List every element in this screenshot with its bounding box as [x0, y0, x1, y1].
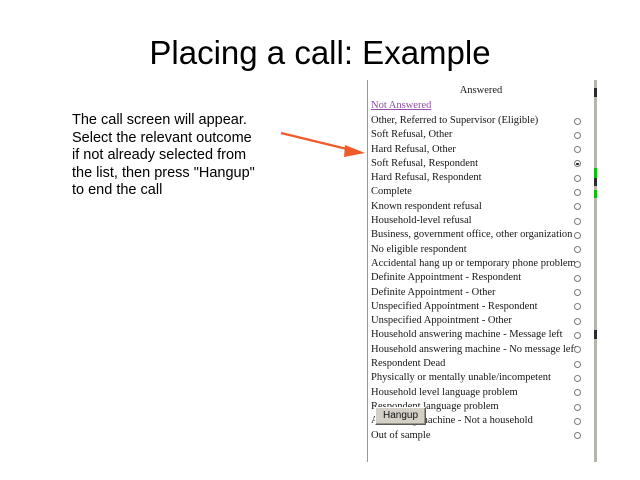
outcome-radio[interactable] — [574, 275, 581, 282]
outcome-row[interactable]: Definite Appointment - Other — [368, 286, 594, 300]
outcome-list: Other, Referred to Supervisor (Eligible)… — [368, 114, 594, 443]
outcome-radio[interactable] — [574, 346, 581, 353]
outcome-row[interactable]: Unspecified Appointment - Other — [368, 314, 594, 328]
outcome-row[interactable]: Household answering machine - Message le… — [368, 328, 594, 342]
outcome-radio[interactable] — [574, 404, 581, 411]
outcome-radio[interactable] — [574, 203, 581, 210]
caption-line: if not already selected from — [72, 147, 287, 165]
outcome-radio[interactable] — [574, 375, 581, 382]
outcome-label: Physically or mentally unable/incompeten… — [371, 371, 551, 385]
outcome-label: Hard Refusal, Other — [371, 143, 456, 157]
outcome-label: Known respondent refusal — [371, 200, 482, 214]
outcome-radio[interactable] — [574, 418, 581, 425]
outcome-label: Respondent Dead — [371, 357, 445, 371]
outcome-row[interactable]: No eligible respondent — [368, 243, 594, 257]
caption-line: The call screen will appear. — [72, 112, 287, 130]
outcome-label: No eligible respondent — [371, 243, 467, 257]
outcome-label: Unspecified Appointment - Respondent — [371, 300, 538, 314]
outcome-row[interactable]: Soft Refusal, Other — [368, 128, 594, 142]
outcome-radio[interactable] — [574, 432, 581, 439]
call-screen-panel: Answered Not Answered Other, Referred to… — [367, 80, 595, 462]
outcome-radio[interactable] — [574, 232, 581, 239]
outcome-row[interactable]: Hard Refusal, Respondent — [368, 171, 594, 185]
outcome-radio[interactable] — [574, 318, 581, 325]
outcome-row[interactable]: Household level language problem — [368, 386, 594, 400]
outcome-row[interactable]: Known respondent refusal — [368, 200, 594, 214]
window-scrollbar-track[interactable] — [594, 80, 597, 462]
outcome-label: Household answering machine - Message le… — [371, 328, 563, 342]
scrollbar-marker-green-secondary[interactable] — [594, 190, 597, 198]
outcome-row[interactable]: Respondent Dead — [368, 357, 594, 371]
outcome-row[interactable]: Physically or mentally unable/incompeten… — [368, 371, 594, 385]
outcome-radio[interactable] — [574, 189, 581, 196]
outcome-radio[interactable] — [574, 303, 581, 310]
outcome-row[interactable]: Hard Refusal, Other — [368, 143, 594, 157]
outcome-row[interactable]: Complete — [368, 185, 594, 199]
caption-line: the list, then press "Hangup" — [72, 165, 287, 183]
scrollbar-tick-lower — [594, 330, 597, 339]
outcome-label: Household level language problem — [371, 386, 518, 400]
outcome-label: Hard Refusal, Respondent — [371, 171, 482, 185]
outcome-radio[interactable] — [574, 389, 581, 396]
outcome-row[interactable]: Accidental hang up or temporary phone pr… — [368, 257, 594, 271]
outcome-row[interactable]: Household answering machine - No message… — [368, 343, 594, 357]
outcome-radio[interactable] — [574, 261, 581, 268]
outcome-label: Complete — [371, 185, 412, 199]
outcome-label: Household-level refusal — [371, 214, 472, 228]
outcome-label: Definite Appointment - Other — [371, 286, 496, 300]
outcome-label: Other, Referred to Supervisor (Eligible) — [371, 114, 538, 128]
outcome-radio[interactable] — [574, 160, 581, 167]
outcome-radio[interactable] — [574, 118, 581, 125]
outcome-row[interactable]: Out of sample — [368, 429, 594, 443]
outcome-label: Household answering machine - No message… — [371, 343, 577, 357]
outcome-label: Out of sample — [371, 429, 431, 443]
not-answered-link[interactable]: Not Answered — [371, 100, 431, 111]
outcome-radio[interactable] — [574, 361, 581, 368]
outcome-radio[interactable] — [574, 146, 581, 153]
page-title: Placing a call: Example — [0, 34, 640, 72]
outcome-label: Accidental hang up or temporary phone pr… — [371, 257, 576, 271]
call-screen-content: Answered Not Answered Other, Referred to… — [368, 80, 594, 460]
outcome-radio[interactable] — [574, 246, 581, 253]
outcome-row[interactable]: Definite Appointment - Respondent — [368, 271, 594, 285]
outcome-radio[interactable] — [574, 132, 581, 139]
outcome-label: Soft Refusal, Respondent — [371, 157, 478, 171]
outcome-label: Definite Appointment - Respondent — [371, 271, 521, 285]
outcome-radio[interactable] — [574, 218, 581, 225]
pointer-arrow-icon — [275, 120, 370, 165]
outcome-label: Unspecified Appointment - Other — [371, 314, 512, 328]
outcome-row[interactable]: Soft Refusal, Respondent — [368, 157, 594, 171]
caption-line: Select the relevant outcome — [72, 130, 287, 148]
outcome-row[interactable]: Other, Referred to Supervisor (Eligible) — [368, 114, 594, 128]
scrollbar-tick-middle — [594, 178, 597, 186]
caption-text-block: The call screen will appear. Select the … — [72, 112, 287, 200]
outcome-radio[interactable] — [574, 289, 581, 296]
scrollbar-tick-top — [594, 88, 597, 97]
outcome-label: Business, government office, other organ… — [371, 228, 572, 242]
outcome-radio[interactable] — [574, 332, 581, 339]
outcome-row[interactable]: Unspecified Appointment - Respondent — [368, 300, 594, 314]
hangup-button[interactable]: Hangup — [375, 407, 426, 425]
answered-heading: Answered — [368, 85, 594, 96]
outcome-label: Soft Refusal, Other — [371, 128, 452, 142]
outcome-row[interactable]: Business, government office, other organ… — [368, 228, 594, 242]
caption-line: to end the call — [72, 182, 287, 200]
outcome-row[interactable]: Household-level refusal — [368, 214, 594, 228]
outcome-radio[interactable] — [574, 175, 581, 182]
